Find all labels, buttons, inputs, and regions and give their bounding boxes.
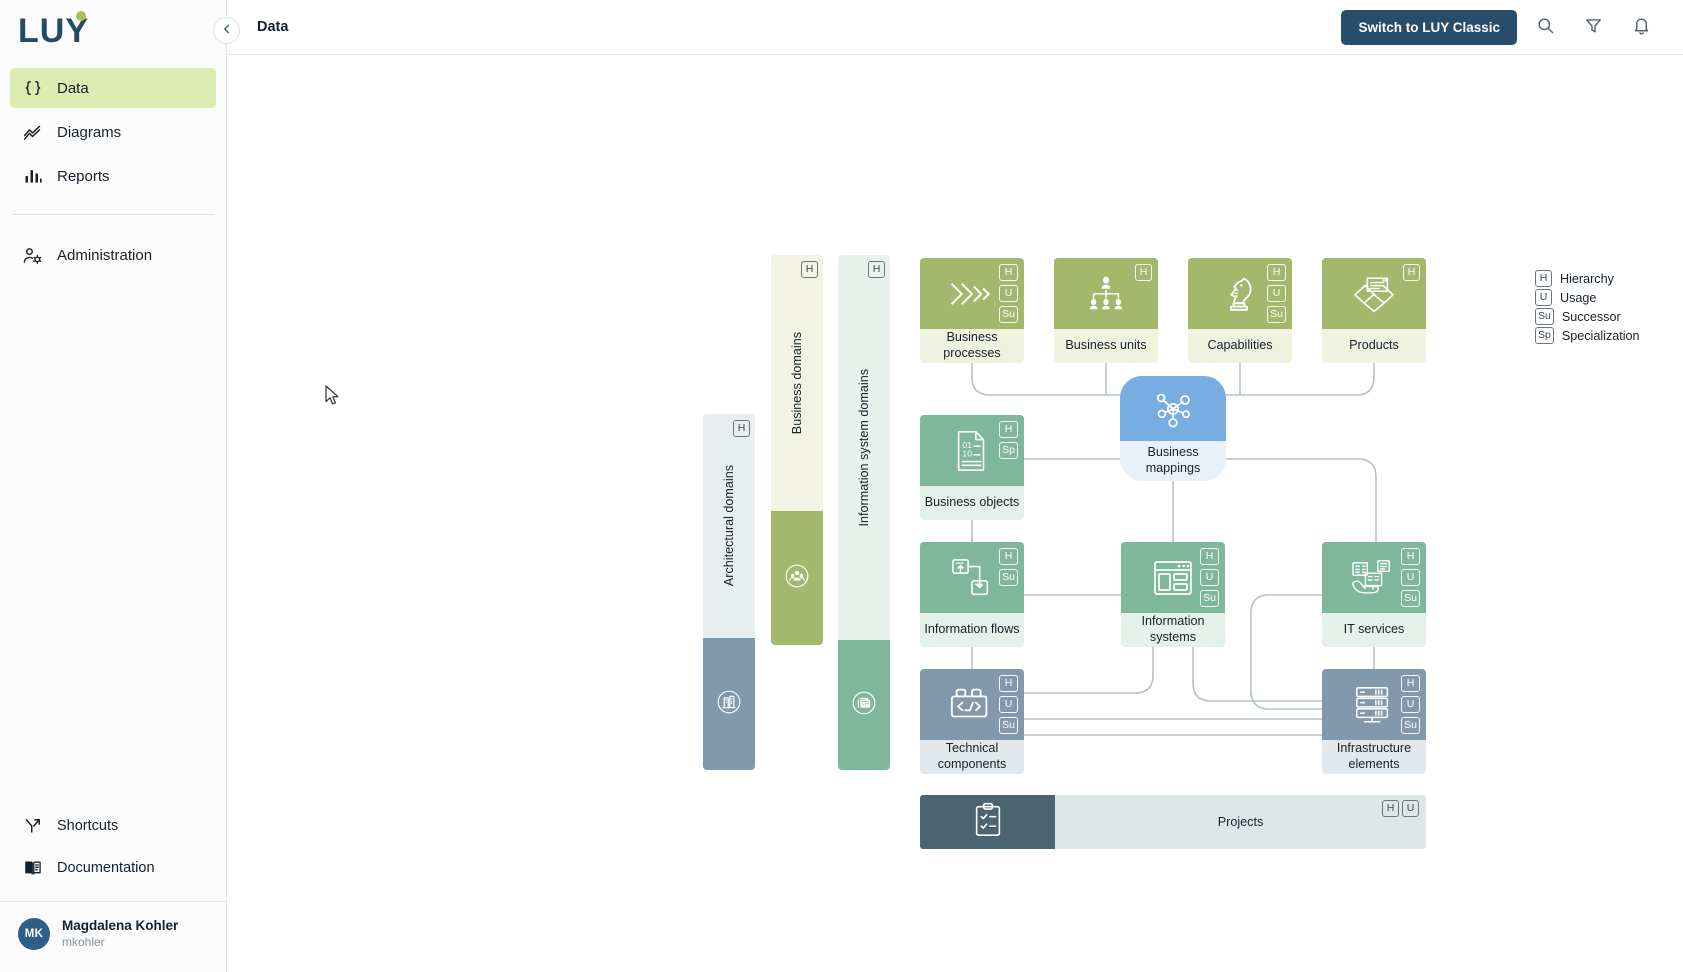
badge-group: H Su: [999, 548, 1018, 586]
application-root: LUY Data Di: [0, 0, 1683, 972]
svg-text:10: 10: [962, 448, 972, 458]
topbar: Data Switch to LUY Classic: [227, 0, 1683, 55]
badge-su: Su: [1267, 306, 1286, 323]
badge-group: H Sp: [999, 421, 1018, 459]
sidebar-item-label: Administration: [57, 247, 152, 264]
badge-u: U: [999, 285, 1018, 302]
legend-item-usage: U Usage: [1535, 289, 1640, 306]
node-label: Information system domains: [857, 369, 871, 526]
legend-key: H: [1535, 270, 1552, 287]
node-information-flows[interactable]: H Su: [920, 542, 1024, 647]
sidebar-spacer: [0, 279, 226, 807]
braces-icon: [22, 78, 43, 99]
code-brick-icon: [948, 685, 996, 725]
badge-group: H: [733, 420, 750, 437]
building-circle-icon: [713, 686, 745, 723]
screen-circle-icon: [848, 687, 880, 724]
org-chart-icon: [1083, 274, 1129, 314]
mouse-cursor: [325, 385, 340, 411]
search-button[interactable]: [1525, 7, 1565, 47]
server-rack-icon: [1350, 684, 1398, 726]
badge-h: H: [999, 675, 1018, 692]
badge-h: H: [999, 548, 1018, 565]
badge-group: H U Su: [1401, 548, 1420, 607]
badge-h: H: [1200, 548, 1219, 565]
search-icon: [1536, 16, 1555, 38]
clipboard-check-icon: [971, 802, 1005, 843]
node-label: Capabilities: [1188, 329, 1292, 363]
badge-group: H U Su: [999, 264, 1018, 323]
badge-group: H: [1135, 264, 1152, 281]
chevrons-right-icon: [947, 275, 997, 313]
notifications-button[interactable]: [1621, 7, 1661, 47]
badge-su: Su: [1401, 590, 1420, 607]
node-business-domains[interactable]: H Business domains: [771, 255, 823, 645]
sidebar-item-label: Diagrams: [57, 124, 121, 141]
node-business-mappings[interactable]: Business mappings: [1120, 376, 1226, 481]
node-business-processes[interactable]: H U Su: [920, 258, 1024, 363]
avatar: MK: [18, 918, 50, 950]
sidebar-item-data[interactable]: Data: [10, 68, 216, 108]
legend-key: Sp: [1535, 327, 1554, 344]
badge-su: Su: [1200, 590, 1219, 607]
book-icon: [22, 858, 43, 879]
badge-group: H U: [1382, 800, 1419, 817]
legend-item-specialization: Sp Specialization: [1535, 327, 1640, 344]
node-projects[interactable]: Projects H U: [920, 795, 1426, 849]
badge-u: U: [1267, 285, 1286, 302]
node-infrastructure-elements[interactable]: H U Su: [1322, 669, 1426, 774]
badge-u: U: [1402, 800, 1419, 817]
bar-chart-icon: [22, 166, 43, 187]
projects-icon-block: [920, 795, 1055, 849]
sidebar-item-reports[interactable]: Reports: [10, 156, 216, 196]
node-label: Business mappings: [1120, 441, 1226, 481]
node-label: Business units: [1054, 329, 1158, 363]
node-label: Information flows: [920, 613, 1024, 647]
node-label: Infrastructure elements: [1322, 740, 1426, 774]
legend-item-successor: Su Successor: [1535, 308, 1640, 325]
legend-label: Hierarchy: [1560, 272, 1614, 286]
badge-h: H: [1401, 675, 1420, 692]
badge-group: H: [801, 261, 818, 278]
legend-label: Successor: [1562, 310, 1621, 324]
legend-key: U: [1535, 289, 1552, 306]
node-label: Business domains: [790, 332, 804, 434]
node-label: IT services: [1322, 613, 1426, 647]
legend: H Hierarchy U Usage Su Successor Sp Spec…: [1535, 270, 1640, 344]
badge-group: H U Su: [1267, 264, 1286, 323]
sidebar-item-administration[interactable]: Administration: [10, 235, 216, 275]
node-business-objects[interactable]: H Sp 01 10: [920, 415, 1024, 520]
badge-u: U: [1401, 569, 1420, 586]
badge-u: U: [1200, 569, 1219, 586]
node-information-systems[interactable]: H U Su: [1121, 542, 1225, 647]
user-profile[interactable]: MK Magdalena Kohler mkohler: [0, 902, 226, 972]
node-it-services[interactable]: H U Su: [1322, 542, 1426, 647]
sidebar-item-label: Data: [57, 80, 89, 97]
node-technical-components[interactable]: H U Su: [920, 669, 1024, 774]
network-nodes-icon: [1149, 387, 1197, 431]
badge-h: H: [1267, 264, 1286, 281]
sidebar-item-documentation[interactable]: Documentation: [10, 849, 216, 887]
sidebar-item-label: Shortcuts: [57, 818, 118, 834]
diagram-canvas[interactable]: H Architectural domains: [227, 55, 1683, 972]
node-label: Projects: [1218, 815, 1264, 829]
admin-nav: Administration: [0, 229, 226, 279]
badge-group: H U Su: [999, 675, 1018, 734]
node-label: Technical components: [920, 740, 1024, 774]
logo-text: LUY: [18, 14, 89, 48]
sidebar-item-label: Reports: [57, 168, 110, 185]
badge-h: H: [1382, 800, 1399, 817]
bell-icon: [1632, 16, 1651, 38]
badge-group: H U Su: [1401, 675, 1420, 734]
node-label: Business objects: [920, 486, 1024, 520]
sidebar-item-shortcuts[interactable]: Shortcuts: [10, 807, 216, 845]
node-label: Architectural domains: [722, 465, 736, 586]
primary-nav: Data Diagrams: [0, 62, 226, 200]
badge-h: H: [999, 421, 1018, 438]
filter-icon: [1584, 16, 1603, 38]
badge-group: H: [868, 261, 885, 278]
sidebar-item-diagrams[interactable]: Diagrams: [10, 112, 216, 152]
badge-h: H: [999, 264, 1018, 281]
badge-sp: Sp: [999, 442, 1018, 459]
badge-h: H: [1403, 264, 1420, 281]
node-information-system-domains[interactable]: H Information system domains: [838, 255, 890, 770]
sidebar-item-label: Documentation: [57, 860, 155, 876]
legend-label: Usage: [1560, 291, 1596, 305]
shortcut-arrow-icon: [22, 816, 43, 837]
flow-arrows-icon: [948, 556, 996, 600]
legend-item-hierarchy: H Hierarchy: [1535, 270, 1640, 287]
user-handle: mkohler: [62, 935, 178, 950]
secondary-nav: Shortcuts Documentation: [0, 807, 226, 901]
sidebar-divider: [12, 214, 214, 215]
sidebar: LUY Data Di: [0, 0, 227, 972]
badge-su: Su: [999, 306, 1018, 323]
badge-h: H: [1135, 264, 1152, 281]
chart-line-icon: [22, 122, 43, 143]
sidebar-collapse-button[interactable]: [213, 17, 240, 44]
chess-knight-icon: [1221, 273, 1259, 315]
badge-su: Su: [1401, 717, 1420, 734]
node-business-units[interactable]: H: [1054, 258, 1158, 363]
open-box-icon: [1348, 273, 1400, 315]
user-name: Magdalena Kohler: [62, 918, 178, 935]
node-label: Information systems: [1121, 613, 1225, 647]
legend-key: Su: [1535, 308, 1554, 325]
badge-h: H: [801, 261, 818, 278]
badge-h: H: [868, 261, 885, 278]
people-circle-icon: [781, 560, 813, 597]
data-document-icon: 01 10: [953, 429, 991, 473]
badge-u: U: [999, 696, 1018, 713]
badge-su: Su: [999, 717, 1018, 734]
page-title: Data: [257, 19, 288, 35]
node-label: Products: [1322, 329, 1426, 363]
badge-h: H: [1401, 548, 1420, 565]
main-area: Data Switch to LUY Classic: [227, 0, 1683, 972]
node-products[interactable]: H: [1322, 258, 1426, 363]
diagram-stage: H Architectural domains: [227, 55, 1683, 972]
logo-leaf-icon: [76, 11, 86, 21]
badge-h: H: [733, 420, 750, 437]
badge-u: U: [1401, 696, 1420, 713]
service-hand-icon: [1349, 557, 1399, 599]
badge-group: H: [1403, 264, 1420, 281]
node-label: Business processes: [920, 329, 1024, 363]
logo[interactable]: LUY: [0, 0, 226, 62]
filter-button[interactable]: [1573, 7, 1613, 47]
window-layout-icon: [1151, 558, 1195, 598]
node-architectural-domains[interactable]: H Architectural domains: [703, 414, 755, 770]
user-gear-icon: [22, 245, 43, 266]
badge-su: Su: [999, 569, 1018, 586]
node-capabilities[interactable]: H U Su: [1188, 258, 1292, 363]
chevron-left-icon: [221, 22, 233, 40]
badge-group: H U Su: [1200, 548, 1219, 607]
switch-to-luy-classic-button[interactable]: Switch to LUY Classic: [1341, 10, 1517, 45]
legend-label: Specialization: [1562, 329, 1640, 343]
